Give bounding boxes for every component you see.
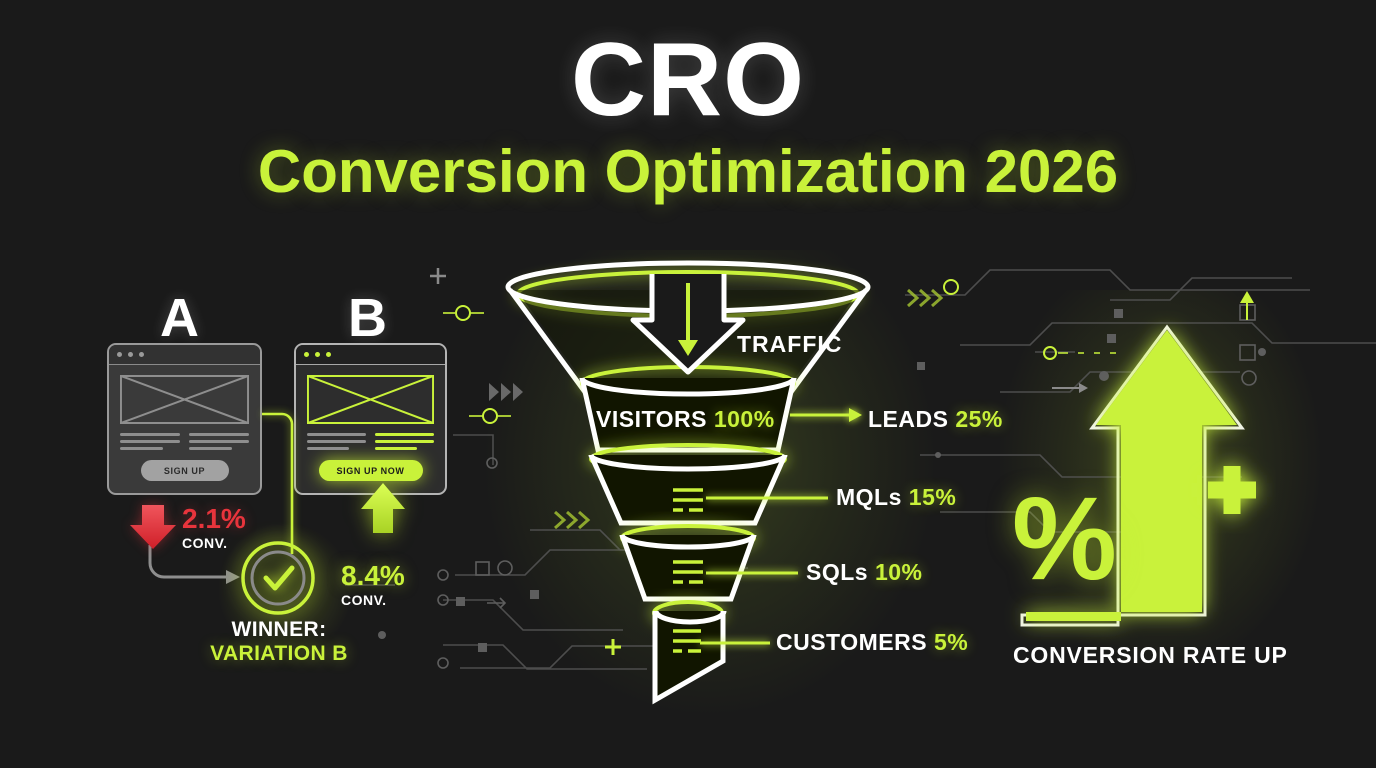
- percent-symbol: %: [1012, 480, 1117, 598]
- text-placeholder-lines: [120, 433, 249, 450]
- funnel-stage-pct: 15%: [909, 484, 957, 510]
- browser-titlebar: [296, 345, 445, 365]
- image-placeholder-icon: [120, 375, 249, 424]
- funnel-stage-name: CUSTOMERS: [776, 629, 927, 655]
- funnel-stage-customers: [654, 602, 724, 700]
- variant-a-cta-button[interactable]: SIGN UP: [141, 460, 229, 481]
- funnel-label-visitors: VISITORS 100%: [596, 406, 775, 433]
- browser-dot-green-icon: [139, 352, 144, 357]
- page-subtitle: Conversion Optimization 2026: [0, 140, 1376, 203]
- funnel-stage-pct: 5%: [934, 629, 968, 655]
- variant-a-browser-mockup[interactable]: SIGN UP: [107, 343, 262, 495]
- variant-b-letter: B: [348, 287, 387, 349]
- funnel-stage-pct: 25%: [955, 406, 1003, 432]
- browser-titlebar: [109, 345, 260, 365]
- funnel-stage-sqls: [622, 526, 754, 599]
- funnel-stage-name: LEADS: [868, 406, 948, 432]
- variant-b-browser-mockup[interactable]: SIGN UP NOW: [294, 343, 447, 495]
- list-icon: [673, 631, 701, 651]
- header: CRO Conversion Optimization 2026: [0, 28, 1376, 203]
- browser-dot-red-icon: [304, 352, 309, 357]
- list-icon: [673, 562, 703, 582]
- funnel-stage-name: VISITORS: [596, 406, 707, 432]
- winner-text-block: WINNER: VARIATION B: [150, 618, 408, 666]
- browser-dot-yellow-icon: [315, 352, 320, 357]
- variant-a-down-arrow-icon: [130, 505, 176, 549]
- page-title: CRO: [0, 28, 1376, 132]
- check-icon: [266, 568, 292, 588]
- traffic-inflow-arrow-icon: [633, 274, 743, 372]
- variant-a-letter: A: [160, 287, 199, 349]
- funnel-stage-name: MQLs: [836, 484, 902, 510]
- variant-b-conversion-value: 8.4%: [341, 562, 405, 590]
- funnel-label-sqls: SQLs 10%: [806, 559, 923, 586]
- funnel-label-mqls: MQLs 15%: [836, 484, 956, 511]
- text-placeholder-lines: [307, 433, 434, 450]
- funnel-stage-pct: 10%: [875, 559, 923, 585]
- browser-dot-red-icon: [117, 352, 122, 357]
- variant-a-conversion-caption: CONV.: [182, 535, 246, 551]
- funnel-inlet-label: TRAFFIC: [737, 331, 842, 358]
- funnel-stage-name: SQLs: [806, 559, 868, 585]
- image-placeholder-icon: [307, 375, 434, 424]
- winner-value: VARIATION B: [150, 642, 408, 666]
- funnel-label-customers: CUSTOMERS 5%: [776, 629, 968, 656]
- plus-icon: [1208, 466, 1256, 514]
- variant-b-conversion-stat: 8.4% CONV.: [341, 562, 405, 608]
- infographic-canvas: CRO Conversion Optimization 2026 A B SIG…: [0, 0, 1376, 768]
- funnel-stage-mqls: [591, 445, 785, 523]
- variant-b-cta-button[interactable]: SIGN UP NOW: [319, 460, 423, 481]
- variant-a-conversion-value: 2.1%: [182, 505, 246, 533]
- browser-dot-yellow-icon: [128, 352, 133, 357]
- leads-arrowhead-icon: [849, 408, 862, 422]
- list-icon: [673, 490, 703, 510]
- funnel-label-leads: LEADS 25%: [868, 406, 1003, 433]
- funnel-leader-lines: [700, 415, 855, 643]
- funnel-stage-pct: 100%: [714, 406, 775, 432]
- funnel-stage-traffic: [508, 263, 868, 392]
- conversion-rate-up-caption: CONVERSION RATE UP: [1013, 642, 1288, 669]
- winner-label: WINNER:: [150, 618, 408, 642]
- variant-a-conversion-stat: 2.1% CONV.: [182, 505, 246, 551]
- variant-b-conversion-caption: CONV.: [341, 592, 405, 608]
- browser-dot-green-icon: [326, 352, 331, 357]
